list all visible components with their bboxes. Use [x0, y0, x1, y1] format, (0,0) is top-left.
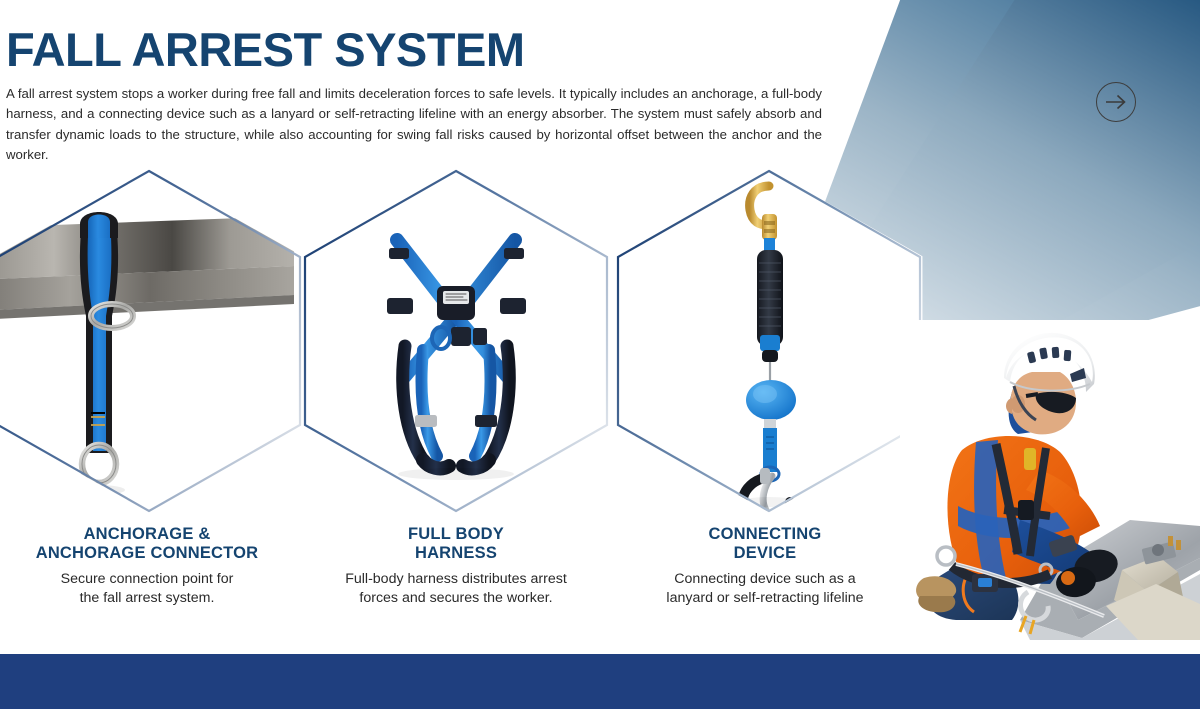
- caption-harness-desc-line1: Full-body harness distributes arrest: [291, 570, 621, 589]
- caption-connecting-device-desc: Connecting device such as a lanyard or s…: [600, 570, 930, 608]
- header-block: FALL ARREST SYSTEM A fall arrest system …: [6, 26, 826, 166]
- caption-anchorage-desc: Secure connection point for the fall arr…: [0, 570, 312, 608]
- caption-harness-desc: Full-body harness distributes arrest for…: [291, 570, 621, 608]
- caption-harness-desc-line2: forces and secures the worker.: [291, 589, 621, 608]
- caption-anchorage-title-line1: ANCHORAGE &: [0, 525, 312, 544]
- caption-anchorage: ANCHORAGE & ANCHORAGE CONNECTOR Secure c…: [0, 525, 312, 608]
- card-harness-hex-frame: [301, 168, 611, 514]
- card-connecting-device-hex-frame: [614, 168, 924, 514]
- caption-anchorage-desc-line1: Secure connection point for: [0, 570, 312, 589]
- caption-connecting-device-desc-line2: lanyard or self-retracting lifeline: [600, 589, 930, 608]
- caption-connecting-device-title-line2: DEVICE: [600, 544, 930, 563]
- caption-connecting-device-title-line1: CONNECTING: [600, 525, 930, 544]
- card-anchorage-hex-frame: [0, 168, 304, 514]
- card-connecting-device[interactable]: [614, 168, 924, 514]
- slide-canvas: FALL ARREST SYSTEM A fall arrest system …: [0, 0, 1200, 709]
- caption-connecting-device-desc-line1: Connecting device such as a: [600, 570, 930, 589]
- hex-card-row: [0, 168, 950, 518]
- card-harness[interactable]: [301, 168, 611, 514]
- intro-paragraph: A fall arrest system stops a worker duri…: [6, 84, 822, 166]
- arrow-right-icon: [1105, 94, 1127, 110]
- page-title: FALL ARREST SYSTEM: [6, 26, 826, 74]
- intro-line-1: A fall arrest system stops a worker duri…: [6, 86, 687, 101]
- caption-harness: FULL BODY HARNESS Full-body harness dist…: [291, 525, 621, 608]
- caption-harness-title: FULL BODY HARNESS: [291, 525, 621, 563]
- caption-connecting-device: CONNECTING DEVICE Connecting device such…: [600, 525, 930, 608]
- caption-anchorage-desc-line2: the fall arrest system.: [0, 589, 312, 608]
- worker-illustration: [900, 320, 1200, 640]
- card-anchorage[interactable]: [0, 168, 304, 514]
- caption-harness-title-line1: FULL BODY: [291, 525, 621, 544]
- caption-anchorage-title: ANCHORAGE & ANCHORAGE CONNECTOR: [0, 525, 312, 563]
- caption-harness-title-line2: HARNESS: [291, 544, 621, 563]
- next-button[interactable]: [1096, 82, 1136, 122]
- footer-bar: [0, 654, 1200, 709]
- caption-anchorage-title-line2: ANCHORAGE CONNECTOR: [0, 544, 312, 563]
- caption-connecting-device-title: CONNECTING DEVICE: [600, 525, 930, 563]
